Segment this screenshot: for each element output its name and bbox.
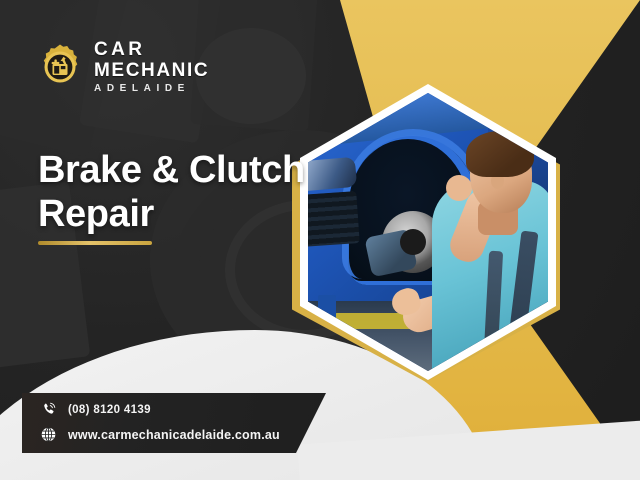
brand-line-3: ADELAIDE [94,84,209,94]
phone-number: (08) 8120 4139 [68,404,151,416]
headline-line-2: Repair [38,192,305,236]
phone-row[interactable]: (08) 8120 4139 [40,401,151,418]
globe-icon [40,426,57,443]
brand-line-1: CAR [94,40,209,59]
gold-underline-rule [38,241,152,245]
car-grille [308,191,360,247]
headline-line-1: Brake & Clutch [38,148,305,192]
rotor-hole-texture [196,28,306,124]
hexagon-photo-frame [292,84,560,388]
website-row[interactable]: www.carmechanicadelaide.com.au [40,426,280,443]
mechanic-upper-hand [446,175,472,201]
website-url: www.carmechanicadelaide.com.au [68,428,280,442]
rotor-hub [400,229,426,255]
mechanic-hair [466,131,534,177]
headline: Brake & Clutch Repair [38,148,305,237]
contact-bar: (08) 8120 4139 www.carmechanicadelaide.c… [22,393,326,453]
gear-tools-icon [36,43,84,91]
phone-icon [40,401,57,418]
brand-line-2: MECHANIC [94,61,209,80]
brand-logo: CAR MECHANIC ADELAIDE [36,40,209,94]
promotional-banner: CAR MECHANIC ADELAIDE Brake & Clutch Rep… [0,0,640,480]
car-headlight [308,157,357,192]
brand-wordmark: CAR MECHANIC ADELAIDE [94,40,209,94]
